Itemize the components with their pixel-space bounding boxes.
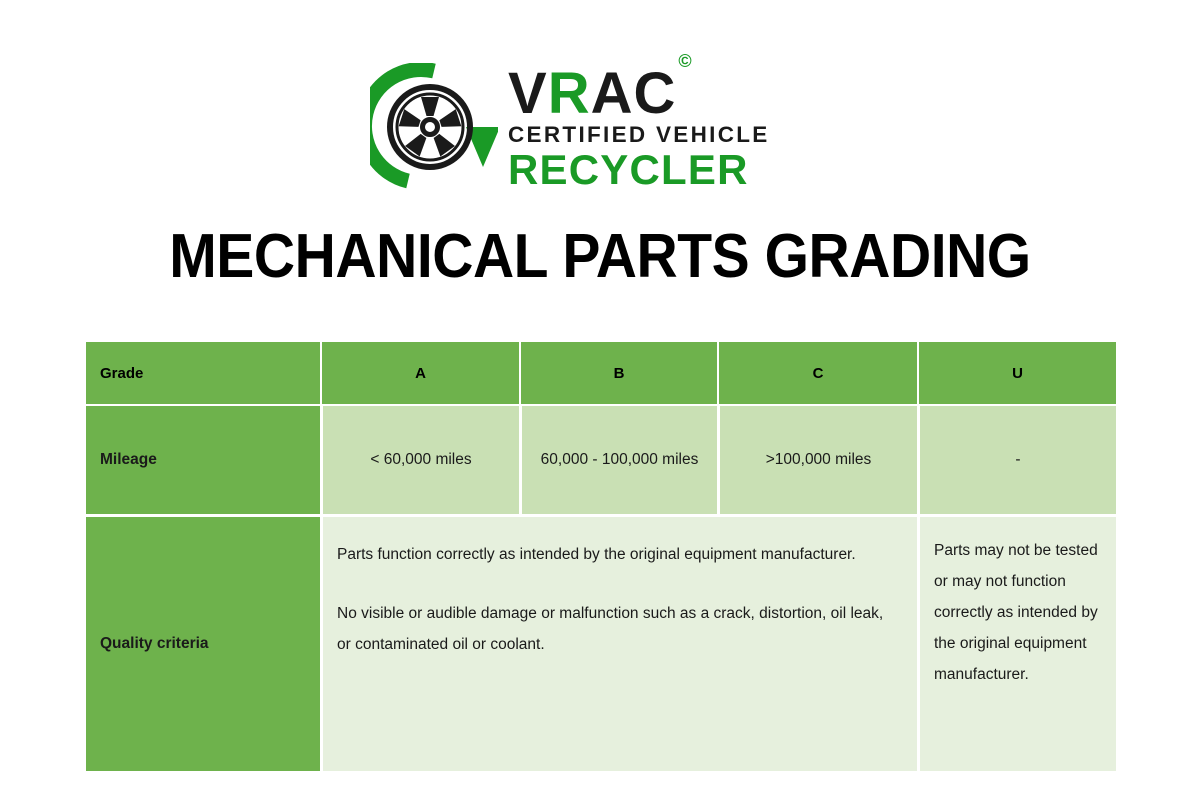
header-cell-b: B xyxy=(519,342,717,404)
vrac-logo: VRAC© CERTIFIED VEHICLE RECYCLER xyxy=(370,52,840,202)
logo-wordmark: VRAC© CERTIFIED VEHICLE RECYCLER xyxy=(508,63,770,191)
quality-grades-abc: Parts function correctly as intended by … xyxy=(320,514,917,771)
poster-page: VRAC© CERTIFIED VEHICLE RECYCLER MECHANI… xyxy=(0,0,1200,800)
quality-grade-u: Parts may not be tested or may not funct… xyxy=(917,514,1116,771)
logo-letter-v: V xyxy=(508,61,548,126)
grading-table: Grade A B C U Mileage < 60,000 miles 60,… xyxy=(86,342,1116,771)
quality-u-paragraph: Parts may not be tested or may not funct… xyxy=(934,535,1102,690)
header-cell-a: A xyxy=(320,342,519,404)
quality-paragraph-1: Parts function correctly as intended by … xyxy=(337,539,899,570)
table-row-mileage: Mileage < 60,000 miles 60,000 - 100,000 … xyxy=(86,404,1116,514)
page-title: MECHANICAL PARTS GRADING xyxy=(48,222,1152,292)
table-header-row: Grade A B C U xyxy=(86,342,1116,404)
logo-brand-line: VRAC© xyxy=(508,66,770,122)
quality-paragraph-2: No visible or audible damage or malfunct… xyxy=(337,598,899,660)
table-row-quality-criteria: Quality criteria Parts function correctl… xyxy=(86,514,1116,771)
logo-recycler-word: RECYCLER xyxy=(508,148,770,192)
header-cell-c: C xyxy=(717,342,917,404)
row-label-mileage: Mileage xyxy=(86,404,320,514)
wheel-recycle-icon xyxy=(370,63,498,191)
copyright-icon: © xyxy=(678,51,692,71)
header-cell-u: U xyxy=(917,342,1116,404)
mileage-grade-a: < 60,000 miles xyxy=(320,404,519,514)
header-cell-grade: Grade xyxy=(86,342,320,404)
mileage-grade-c: >100,000 miles xyxy=(717,404,917,514)
logo-letter-r: R xyxy=(548,61,591,126)
row-label-quality-criteria: Quality criteria xyxy=(86,514,320,771)
mileage-grade-b: 60,000 - 100,000 miles xyxy=(519,404,717,514)
logo-letters-ac: AC xyxy=(591,61,677,126)
mileage-grade-u: - xyxy=(917,404,1116,514)
